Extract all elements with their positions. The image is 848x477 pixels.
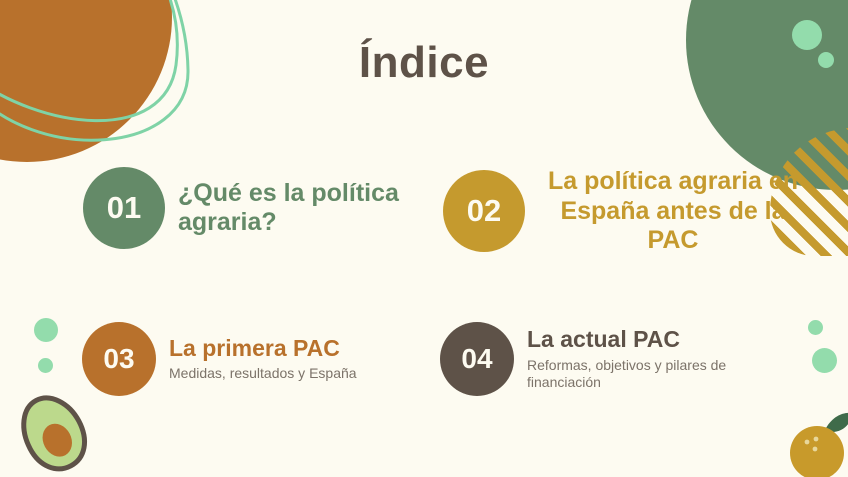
index-number-badge-02: 02 (443, 170, 525, 252)
index-number-badge-04: 04 (440, 322, 514, 396)
index-item-text-01: ¿Qué es la política agraria? (178, 179, 418, 238)
index-item-text-02: La política agraria en España antes de l… (538, 167, 808, 256)
index-number-badge-01: 01 (83, 167, 165, 249)
index-item-04[interactable]: 04 La actual PAC Reformas, objetivos y p… (440, 322, 767, 396)
green-circle-decoration-top-right (686, 0, 848, 190)
orange-fruit-icon (784, 406, 848, 477)
mint-dot-icon-bottom-right-large (812, 348, 837, 373)
index-item-title-04: La actual PAC (527, 326, 767, 353)
mint-dot-icon-bottom-left-small (38, 358, 53, 373)
mint-dot-icon-bottom-left-large (34, 318, 58, 342)
mint-dot-icon-bottom-right-small (808, 320, 823, 335)
index-item-03[interactable]: 03 La primera PAC Medidas, resultados y … (82, 322, 359, 396)
index-item-02[interactable]: 02 La política agraria en España antes d… (443, 167, 808, 256)
index-item-title-01: ¿Qué es la política agraria? (178, 179, 418, 238)
index-item-text-03: La primera PAC Medidas, resultados y Esp… (169, 335, 359, 383)
index-item-subtitle-03: Medidas, resultados y España (169, 365, 359, 383)
page-title: Índice (0, 38, 848, 88)
index-item-subtitle-04: Reformas, objetivos y pilares de financi… (527, 357, 767, 392)
index-item-title-02: La política agraria en España antes de l… (538, 167, 808, 256)
avocado-icon (8, 388, 100, 477)
slide-canvas: Índice 01 ¿Qué es la política agraria? 0… (0, 0, 848, 477)
index-item-text-04: La actual PAC Reformas, objetivos y pila… (527, 326, 767, 391)
index-number-badge-03: 03 (82, 322, 156, 396)
index-item-title-03: La primera PAC (169, 335, 359, 362)
index-item-01[interactable]: 01 ¿Qué es la política agraria? (83, 167, 418, 249)
